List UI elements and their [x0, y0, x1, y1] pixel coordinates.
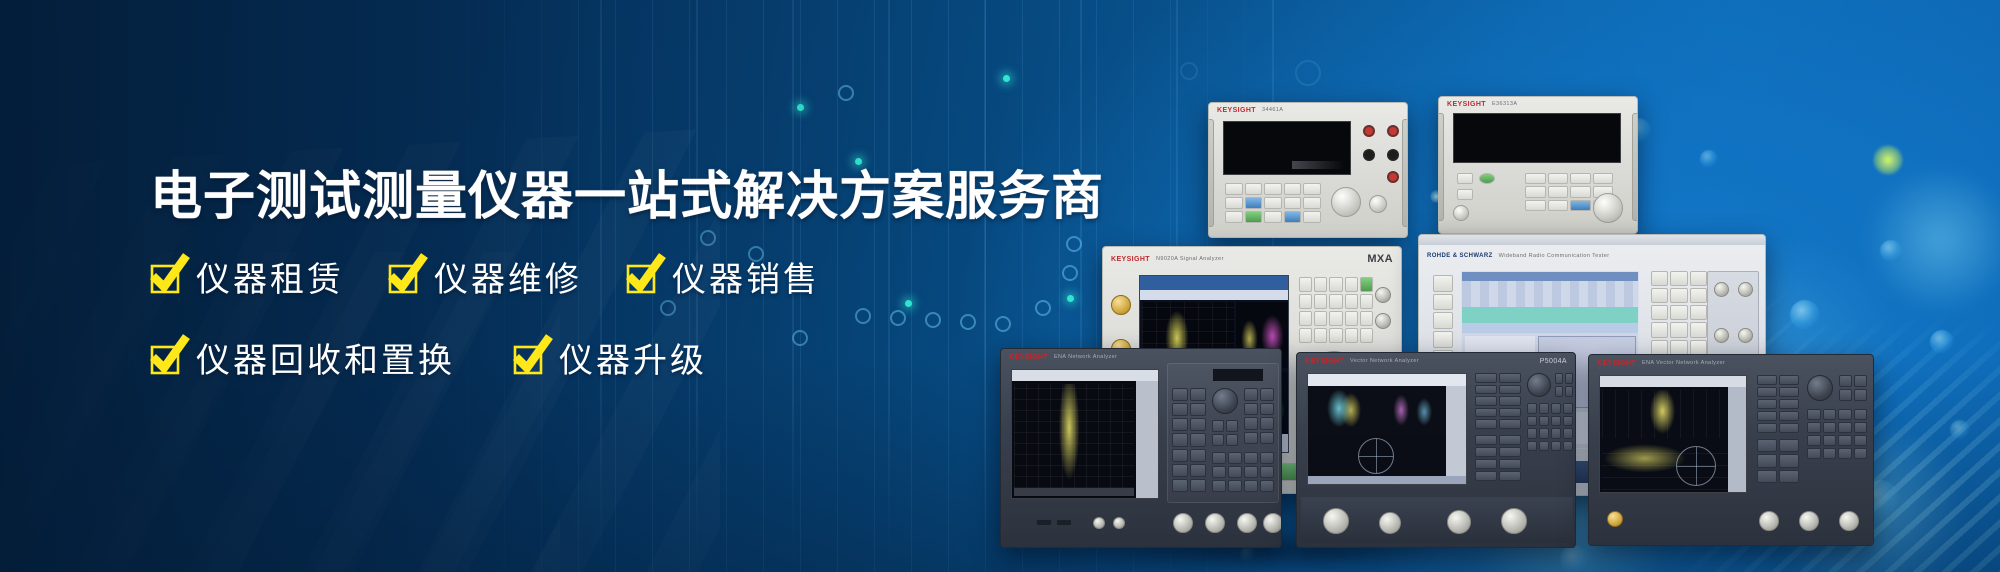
banner-copy: 电子测试测量仪器一站式解决方案服务商 仪器租赁 — [150, 168, 1050, 382]
instrument-keypad — [1757, 439, 1799, 483]
instrument-port — [1375, 287, 1391, 303]
instrument-test-port-3 — [1379, 512, 1401, 534]
instrument-usb-port — [1037, 520, 1051, 525]
instrument-arrow-keys — [1555, 373, 1573, 397]
instrument-test-port — [1263, 513, 1282, 533]
checkbox-checked-icon — [150, 262, 180, 292]
instrument-display — [1011, 369, 1159, 499]
instrument-test-port — [1237, 513, 1257, 533]
instrument-handle — [1632, 113, 1638, 221]
instrument-rf-port — [1738, 328, 1753, 343]
instrument-brand-label: ROHDE & SCHWARZ Wideband Radio Communica… — [1419, 245, 1765, 267]
checkbox-checked-icon — [513, 343, 543, 373]
instrument-rotary-knob — [1212, 388, 1238, 414]
instrument-handle — [1438, 113, 1444, 221]
instrument-display — [1307, 373, 1467, 485]
instrument-foot — [1209, 547, 1255, 548]
service-item-repair[interactable]: 仪器维修 — [388, 252, 582, 301]
model-text: E36313A — [1492, 101, 1517, 107]
instrument-terminal — [1387, 149, 1399, 161]
instrument-digital-multimeter: KEYSIGHT 34461A — [1208, 102, 1408, 238]
service-row-1: 仪器租赁 仪器维修 — [150, 252, 1050, 301]
instrument-keypad — [1299, 277, 1373, 343]
model-badge: MXA — [1367, 253, 1393, 265]
service-row-2: 仪器回收和置换 仪器升级 — [150, 333, 1050, 382]
instrument-keypad — [1757, 375, 1799, 433]
service-label: 仪器升级 — [559, 333, 707, 382]
instrument-test-port — [1205, 513, 1225, 533]
instrument-rotary-knob — [1807, 375, 1833, 401]
instrument-foot — [1027, 547, 1073, 548]
brand-text: KEYSIGHT — [1111, 256, 1150, 263]
service-label: 仪器维修 — [434, 252, 582, 301]
smith-chart — [1358, 438, 1394, 474]
instrument-knob — [1369, 195, 1387, 213]
model-text: N9020A Signal Analyzer — [1156, 256, 1224, 262]
instrument-rf-port — [1714, 282, 1729, 297]
service-item-rental[interactable]: 仪器租赁 — [150, 252, 344, 301]
page-title: 电子测试测量仪器一站式解决方案服务商 — [150, 168, 1050, 226]
instrument-brand-label: KEYSIGHT N9020A Signal Analyzer MXA — [1103, 247, 1401, 271]
instrument-display — [1453, 113, 1621, 163]
instrument-foot — [1615, 545, 1661, 546]
instrument-control-panel — [1167, 363, 1279, 503]
instrument-arrow-keys — [1839, 375, 1867, 401]
instrument-numeric-keypad — [1527, 403, 1573, 451]
instrument-test-port — [1799, 511, 1819, 531]
instrument-test-port-4 — [1447, 510, 1471, 534]
service-item-sales[interactable]: 仪器销售 — [626, 252, 820, 301]
instrument-test-port — [1173, 513, 1193, 533]
service-label: 仪器租赁 — [196, 252, 344, 301]
instrument-terminal — [1387, 125, 1399, 137]
instrument-button — [1457, 189, 1473, 200]
instrument-usb-port — [1057, 520, 1071, 525]
brand-text: KEYSIGHT — [1597, 360, 1636, 367]
instrument-port-bar — [1301, 497, 1573, 543]
instrument-rf-port — [1111, 295, 1131, 315]
model-text: ENA Vector Network Analyzer — [1642, 360, 1725, 366]
instrument-terminal — [1363, 125, 1375, 137]
brand-text: KEYSIGHT — [1447, 101, 1486, 108]
instrument-foot — [1801, 545, 1847, 546]
instrument-network-analyzer-right: KEYSIGHT ENA Vector Network Analyzer — [1588, 354, 1874, 546]
instrument-knob — [1453, 205, 1469, 221]
instrument-rf-port — [1714, 328, 1729, 343]
instrument-terminal — [1363, 149, 1375, 161]
model-badge: P5004A — [1540, 358, 1567, 365]
instrument-test-port-1 — [1323, 508, 1349, 534]
instrument-rf-port — [1607, 511, 1623, 527]
instrument-rotary-knob — [1527, 373, 1551, 397]
instrument-cluster: KEYSIGHT 34461A — [1040, 96, 1980, 572]
instrument-port — [1113, 517, 1125, 529]
instrument-brand-label: KEYSIGHT ENA Vector Network Analyzer — [1589, 355, 1873, 371]
model-text: ENA Network Analyzer — [1054, 354, 1117, 360]
model-text: 34461A — [1262, 107, 1283, 113]
instrument-output-button — [1479, 173, 1495, 184]
promo-banner: 电子测试测量仪器一站式解决方案服务商 仪器租赁 — [0, 0, 2000, 572]
instrument-foot — [1503, 547, 1549, 548]
service-item-upgrade[interactable]: 仪器升级 — [513, 333, 707, 382]
brand-text: KEYSIGHT — [1305, 358, 1344, 365]
instrument-rf-port — [1738, 282, 1753, 297]
instrument-test-port — [1759, 511, 1779, 531]
service-item-recycle-exchange[interactable]: 仪器回收和置换 — [150, 333, 455, 382]
brand-text: KEYSIGHT — [1217, 107, 1256, 114]
instrument-display — [1599, 375, 1747, 493]
model-text: Wideband Radio Communication Tester — [1499, 253, 1610, 259]
service-list: 仪器租赁 仪器维修 — [150, 252, 1050, 382]
instrument-brand-label: KEYSIGHT E36313A — [1439, 97, 1637, 112]
smith-chart — [1676, 446, 1716, 486]
instrument-network-analyzer-center: KEYSIGHT Vector Network Analyzer P5004A — [1296, 352, 1576, 548]
checkbox-checked-icon — [150, 343, 180, 373]
instrument-power-supply: KEYSIGHT E36313A — [1438, 96, 1638, 234]
instrument-numeric-keypad — [1807, 409, 1867, 459]
instrument-keypad — [1475, 435, 1521, 481]
instrument-rotary-knob — [1593, 193, 1623, 223]
instrument-handle — [1402, 119, 1408, 227]
instrument-display — [1223, 121, 1351, 175]
instrument-button — [1457, 173, 1473, 184]
instrument-port — [1375, 313, 1391, 329]
instrument-foot — [1353, 237, 1389, 238]
instrument-port — [1093, 517, 1105, 529]
instrument-brand-label: KEYSIGHT 34461A — [1209, 103, 1407, 118]
instrument-test-port — [1839, 511, 1859, 531]
instrument-keypad — [1475, 373, 1521, 429]
instrument-terminal — [1387, 171, 1399, 183]
brand-text: ROHDE & SCHWARZ — [1427, 253, 1493, 259]
service-label: 仪器销售 — [672, 252, 820, 301]
instrument-navigation-pad — [1331, 187, 1361, 217]
checkbox-checked-icon — [626, 262, 656, 292]
instrument-foot — [1227, 237, 1263, 238]
instrument-vent-strip — [1419, 235, 1765, 245]
service-label: 仪器回收和置换 — [196, 333, 455, 382]
instrument-foot — [1323, 547, 1369, 548]
instrument-handle — [1208, 119, 1214, 227]
instrument-test-port-2 — [1501, 508, 1527, 534]
checkbox-checked-icon — [388, 262, 418, 292]
instrument-keypad — [1225, 183, 1321, 223]
model-text: Vector Network Analyzer — [1350, 358, 1419, 364]
instrument-brand-label: KEYSIGHT Vector Network Analyzer P5004A — [1297, 353, 1575, 369]
